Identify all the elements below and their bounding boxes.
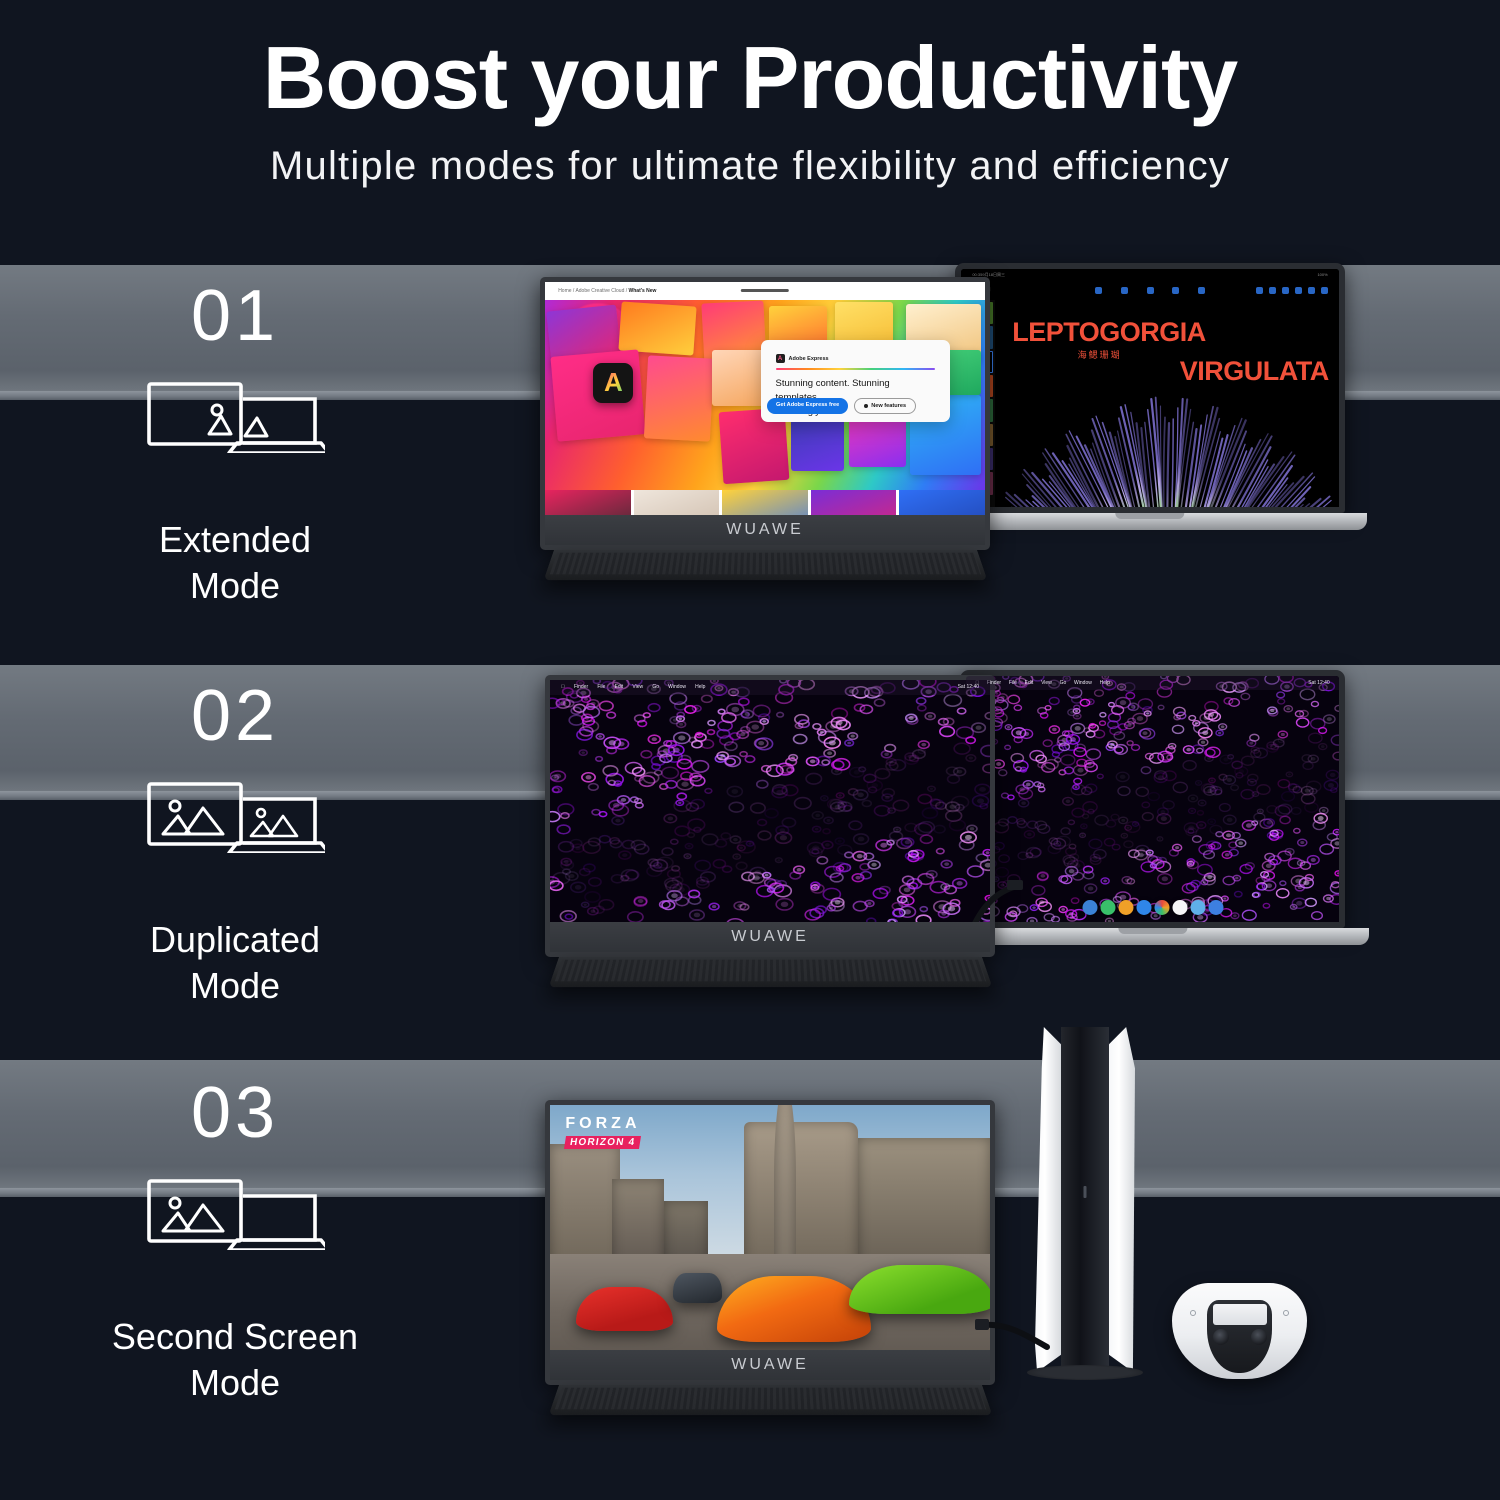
distant-car [673,1273,721,1303]
mode-number-01: 01 [0,280,470,352]
mode-label-column-3: 03 Second Screen Mode [0,1077,470,1406]
monitor-stand-3 [548,1385,992,1415]
portable-monitor-3: FORZA HORIZON 4 WUAWE [545,1100,995,1385]
portable-monitor-2:  Finder File Edit View Go Window Help S… [545,675,995,957]
music-icon[interactable] [1172,900,1187,915]
podcasts-icon[interactable] [1190,900,1205,915]
page-header: Boost your Productivity Multiple modes f… [0,0,1500,189]
mode-number-03: 03 [0,1077,470,1149]
macos-dock-laptop[interactable] [1082,900,1223,915]
menu-view[interactable]: View [632,684,643,690]
macos-menubar-monitor[interactable]:  Finder File Edit View Go Window Help S… [550,680,990,695]
menu-edit[interactable]: Edit [615,684,624,690]
history-icon[interactable] [1147,287,1154,294]
macos-desktop-monitor:  Finder File Edit View Go Window Help S… [550,680,990,952]
new-features-button[interactable]: New features [854,398,916,414]
format-icon[interactable] [1308,287,1315,294]
monitor-body-2:  Finder File Edit View Go Window Help S… [545,675,995,957]
pen-icon[interactable] [1295,287,1302,294]
forza-wordmark: FORZA [565,1116,640,1132]
collage-tile [644,356,714,443]
menubar-clock[interactable]: Sat 12:40 [958,684,979,690]
forza-horizon-logo: FORZA HORIZON 4 [565,1116,640,1150]
menu-window[interactable]: Window [1074,680,1092,686]
monitor-screen-3: FORZA HORIZON 4 [550,1105,990,1380]
help-icon[interactable] [1282,287,1289,294]
breadcrumb[interactable]: Home / Adobe Creative Cloud / What's New [558,288,656,294]
portable-monitor-1: Home / Adobe Creative Cloud / What's New [540,277,990,550]
laptop-notch-1 [1115,513,1184,519]
promo-brand: Adobe Express [789,356,829,362]
monitor-body-3: FORZA HORIZON 4 WUAWE [545,1100,995,1385]
adobe-express-logo: A [593,363,633,403]
laptop-lid-1: 00:35 9月18日周三 100% 保护珊瑚 [955,263,1345,513]
monitor-plus-laptop-split-image-icon [145,378,325,453]
menu-edit[interactable]: Edit [1025,680,1034,686]
mode-panel-second-screen: 03 Second Screen Mode [0,1015,1500,1415]
menu-help[interactable]: Help [1100,680,1110,686]
monitor-chin-3: WUAWE [550,1350,990,1380]
menu-file[interactable]: File [1009,680,1017,686]
get-adobe-express-free-button[interactable]: Get Adobe Express free [767,398,848,414]
menu-go[interactable]: Go [1060,680,1067,686]
promo-card-header: A Adobe Express [776,354,935,363]
purple-coral-wallpaper-duplicate [550,680,990,952]
mode-name-1-line1: Extended [0,517,470,563]
monitor-plus-laptop-same-image-icon [145,778,325,853]
monitor-brand-1: WUAWE [726,521,804,539]
monitor-image-laptop-blank-icon [145,1175,325,1250]
page-subtitle: Multiple modes for ultimate flexibility … [0,144,1500,189]
adobe-express-page: Home / Adobe Creative Cloud / What's New [545,282,985,545]
monitor-stand-2 [548,957,992,987]
mode-name-1-line2: Mode [0,563,470,609]
mode-number-02: 02 [0,680,470,752]
photos-icon[interactable] [1154,900,1169,915]
breadcrumb-current: What's New [629,288,657,294]
ipad-status-bar: 00:35 9月18日周三 100% [961,269,1339,281]
shapes-icon[interactable] [1172,287,1179,294]
adobe-express-promo-card: A Adobe Express Stunning content. Stunni… [761,340,950,421]
collage-tile [618,302,696,356]
building-tower [774,1105,796,1276]
play-icon[interactable] [1095,287,1102,294]
laptop-base-1 [933,513,1367,530]
monitor-chin-1: WUAWE [545,515,985,545]
monitor-chin-2: WUAWE [550,922,990,952]
keynote-presentation: 00:35 9月18日周三 100% 保护珊瑚 [961,269,1339,507]
left-stick[interactable] [1213,1329,1229,1345]
breadcrumb-home[interactable]: Home [558,288,571,294]
mode-name-3-line1: Second Screen [0,1314,470,1360]
menu-file[interactable]: File [597,684,605,690]
dpad-icon[interactable] [1190,1310,1196,1316]
macos-menubar-laptop[interactable]:  Finder File Edit View Go Window Help S… [966,676,1339,690]
monitor-brand-2: WUAWE [731,928,809,946]
apple-logo-icon[interactable]:  [561,684,565,690]
mode-label-column-2: 02 Duplicated Mode [0,680,470,1009]
sea-fan-coral-image [995,325,1339,507]
ps5-base-stand [1027,1365,1143,1380]
dualsense-controller[interactable] [1172,1283,1307,1379]
layout-icon[interactable] [1121,287,1128,294]
monitor-screen-2:  Finder File Edit View Go Window Help S… [550,680,990,952]
contacts-icon[interactable] [1118,900,1133,915]
mode-name-2-line2: Mode [0,963,470,1009]
mode-panel-duplicated: 02 Duplicated Mode [0,615,1500,1015]
monitor-screen-1: Home / Adobe Creative Cloud / What's New [545,282,985,545]
breadcrumb-mid[interactable]: Adobe Creative Cloud [575,288,624,294]
horizon-4-badge: HORIZON 4 [564,1136,641,1149]
mode-name-2-line1: Duplicated [0,917,470,963]
keynote-toolbar[interactable]: 保护珊瑚 [961,281,1339,300]
adobe-express-mark-icon: A [776,354,785,363]
building [550,1144,620,1271]
building-landmark [744,1122,858,1276]
menu-go[interactable]: Go [652,684,659,690]
monitor-brand-3: WUAWE [731,1356,809,1374]
menu-help[interactable]: Help [695,684,705,690]
rainbow-divider [776,368,935,370]
laptop-screen-1: 00:35 9月18日周三 100% 保护珊瑚 [961,269,1339,507]
safari-icon[interactable] [1136,900,1151,915]
laptop-device-1: 00:35 9月18日周三 100% 保护珊瑚 [955,263,1345,513]
mode-name-3-line2: Mode [0,1360,470,1406]
controller-touchpad[interactable] [1213,1304,1267,1325]
forza-horizon-4-game: FORZA HORIZON 4 [550,1105,990,1380]
breadcrumb-sep-2: / [626,288,627,294]
status-battery: 100% [1317,272,1327,277]
share-icon[interactable] [1269,287,1276,294]
ps5-core-body [1061,1027,1109,1372]
appstore-icon[interactable] [1208,900,1223,915]
facetime-icon[interactable] [1100,900,1115,915]
mode-label-column-1: 01 Extended Mode [0,280,470,609]
menubar-clock[interactable]: Sat 12:40 [1308,680,1329,686]
laptop-notch-2 [1118,928,1187,934]
mode-panel-extended: 01 Extended Mode 00:35 9月18日周三 100 [0,215,1500,615]
browser-breadcrumb-bar: Home / Adobe Creative Cloud / What's New [545,282,985,300]
more-icon[interactable] [1321,287,1328,294]
slide-canvas: LEPTOGORGIA 海鳃珊瑚 VIRGULATA [995,300,1339,507]
template-collage-hero: A A Adobe Express Stunning content. Stun… [545,300,985,489]
green-supercar [849,1265,990,1315]
page-title: Boost your Productivity [0,34,1500,122]
right-stick[interactable] [1251,1329,1267,1345]
new-features-label: New features [871,403,906,409]
monitor-stand-1 [543,550,987,580]
media-icon[interactable] [1198,287,1205,294]
finder-icon[interactable] [1082,900,1097,915]
cloud-icon[interactable] [1256,287,1263,294]
monitor-body-1: Home / Adobe Creative Cloud / What's New [540,277,990,550]
ps5-fin-right [1109,1027,1135,1372]
menu-finder[interactable]: Finder [574,684,588,690]
promo-actions: Get Adobe Express free New features [767,398,916,414]
menu-window[interactable]: Window [668,684,686,690]
menu-view[interactable]: View [1041,680,1052,686]
